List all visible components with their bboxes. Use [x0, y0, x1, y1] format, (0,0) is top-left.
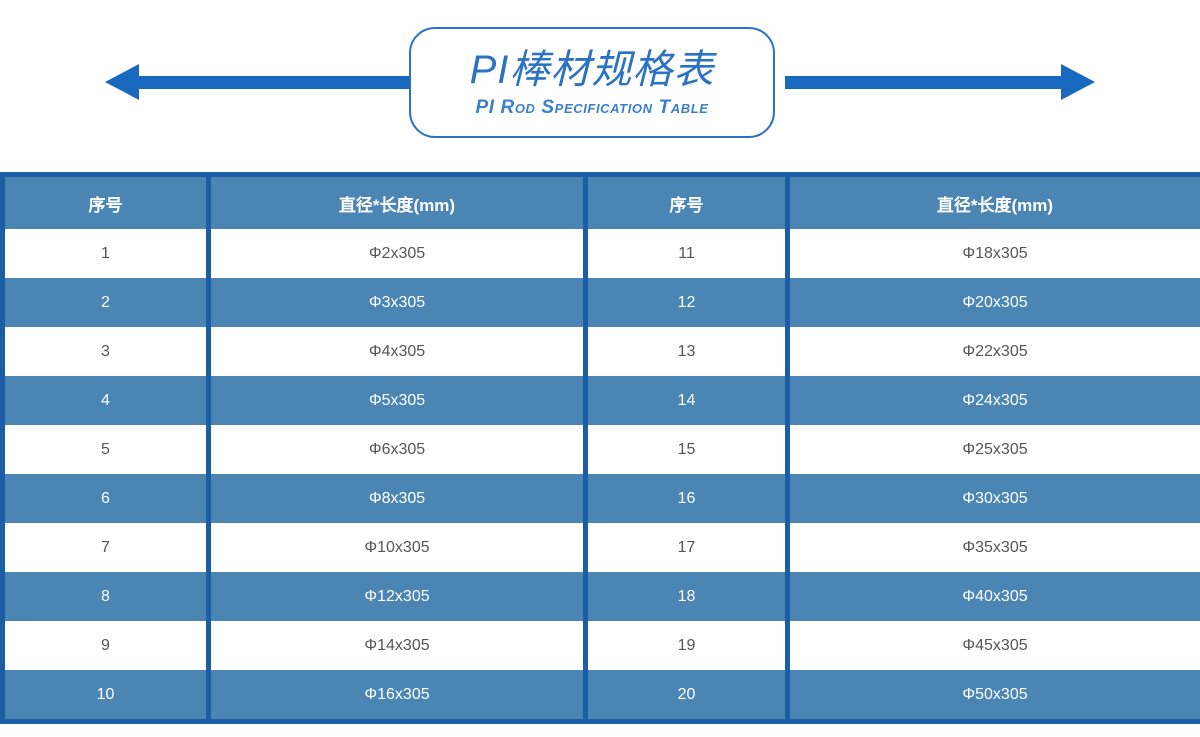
- table-body: 1Φ2x30511Φ18x3052Φ3x30512Φ20x3053Φ4x3051…: [3, 229, 1200, 722]
- cell-spec-right: Φ24x305: [788, 376, 1200, 425]
- table-row: 8Φ12x30518Φ40x305: [3, 572, 1200, 621]
- cell-spec-right: Φ25x305: [788, 425, 1200, 474]
- title-plaque: PI棒材规格表 PI Rod Specification Table: [409, 27, 775, 138]
- cell-index-right: 20: [586, 670, 788, 722]
- cell-index-left: 6: [3, 474, 209, 523]
- cell-spec-left: Φ10x305: [209, 523, 586, 572]
- cell-spec-left: Φ8x305: [209, 474, 586, 523]
- table-row: 1Φ2x30511Φ18x305: [3, 229, 1200, 278]
- cell-index-right: 17: [586, 523, 788, 572]
- table-header-row: 序号 直径*长度(mm) 序号 直径*长度(mm): [3, 175, 1200, 230]
- cell-index-left: 10: [3, 670, 209, 722]
- arrow-left-shaft: [137, 76, 415, 89]
- cell-index-left: 3: [3, 327, 209, 376]
- pi-rod-specification-table: 序号 直径*长度(mm) 序号 直径*长度(mm) 1Φ2x30511Φ18x3…: [0, 172, 1200, 724]
- table-row: 2Φ3x30512Φ20x305: [3, 278, 1200, 327]
- cell-index-left: 5: [3, 425, 209, 474]
- cell-index-left: 2: [3, 278, 209, 327]
- cell-index-right: 14: [586, 376, 788, 425]
- cell-spec-right: Φ22x305: [788, 327, 1200, 376]
- cell-spec-left: Φ12x305: [209, 572, 586, 621]
- cell-index-right: 19: [586, 621, 788, 670]
- arrow-right-shaft: [785, 76, 1065, 89]
- cell-spec-right: Φ40x305: [788, 572, 1200, 621]
- table-row: 9Φ14x30519Φ45x305: [3, 621, 1200, 670]
- cell-index-left: 4: [3, 376, 209, 425]
- table-row: 10Φ16x30520Φ50x305: [3, 670, 1200, 722]
- page-subtitle: PI Rod Specification Table: [475, 97, 708, 119]
- table-row: 4Φ5x30514Φ24x305: [3, 376, 1200, 425]
- cell-index-left: 9: [3, 621, 209, 670]
- column-header-spec-right: 直径*长度(mm): [788, 175, 1200, 230]
- cell-index-right: 13: [586, 327, 788, 376]
- cell-spec-left: Φ6x305: [209, 425, 586, 474]
- cell-spec-right: Φ18x305: [788, 229, 1200, 278]
- cell-spec-left: Φ14x305: [209, 621, 586, 670]
- table-row: 3Φ4x30513Φ22x305: [3, 327, 1200, 376]
- cell-spec-left: Φ3x305: [209, 278, 586, 327]
- page-title: PI棒材规格表: [470, 47, 715, 93]
- cell-index-left: 8: [3, 572, 209, 621]
- cell-index-right: 16: [586, 474, 788, 523]
- cell-spec-right: Φ20x305: [788, 278, 1200, 327]
- page-header-banner: PI棒材规格表 PI Rod Specification Table: [0, 0, 1200, 165]
- cell-spec-left: Φ4x305: [209, 327, 586, 376]
- table-row: 7Φ10x30517Φ35x305: [3, 523, 1200, 572]
- cell-spec-right: Φ30x305: [788, 474, 1200, 523]
- table-row: 5Φ6x30515Φ25x305: [3, 425, 1200, 474]
- cell-spec-left: Φ16x305: [209, 670, 586, 722]
- arrow-left-icon: [105, 64, 139, 100]
- cell-index-left: 1: [3, 229, 209, 278]
- cell-index-right: 15: [586, 425, 788, 474]
- cell-index-left: 7: [3, 523, 209, 572]
- table-header: 序号 直径*长度(mm) 序号 直径*长度(mm): [3, 175, 1200, 230]
- spec-table-container: 序号 直径*长度(mm) 序号 直径*长度(mm) 1Φ2x30511Φ18x3…: [0, 172, 1200, 724]
- cell-spec-right: Φ35x305: [788, 523, 1200, 572]
- cell-index-right: 11: [586, 229, 788, 278]
- cell-spec-right: Φ50x305: [788, 670, 1200, 722]
- cell-spec-left: Φ5x305: [209, 376, 586, 425]
- column-header-index-right: 序号: [586, 175, 788, 230]
- cell-index-right: 18: [586, 572, 788, 621]
- arrow-right-icon: [1061, 64, 1095, 100]
- table-row: 6Φ8x30516Φ30x305: [3, 474, 1200, 523]
- cell-spec-right: Φ45x305: [788, 621, 1200, 670]
- cell-spec-left: Φ2x305: [209, 229, 586, 278]
- column-header-index-left: 序号: [3, 175, 209, 230]
- cell-index-right: 12: [586, 278, 788, 327]
- column-header-spec-left: 直径*长度(mm): [209, 175, 586, 230]
